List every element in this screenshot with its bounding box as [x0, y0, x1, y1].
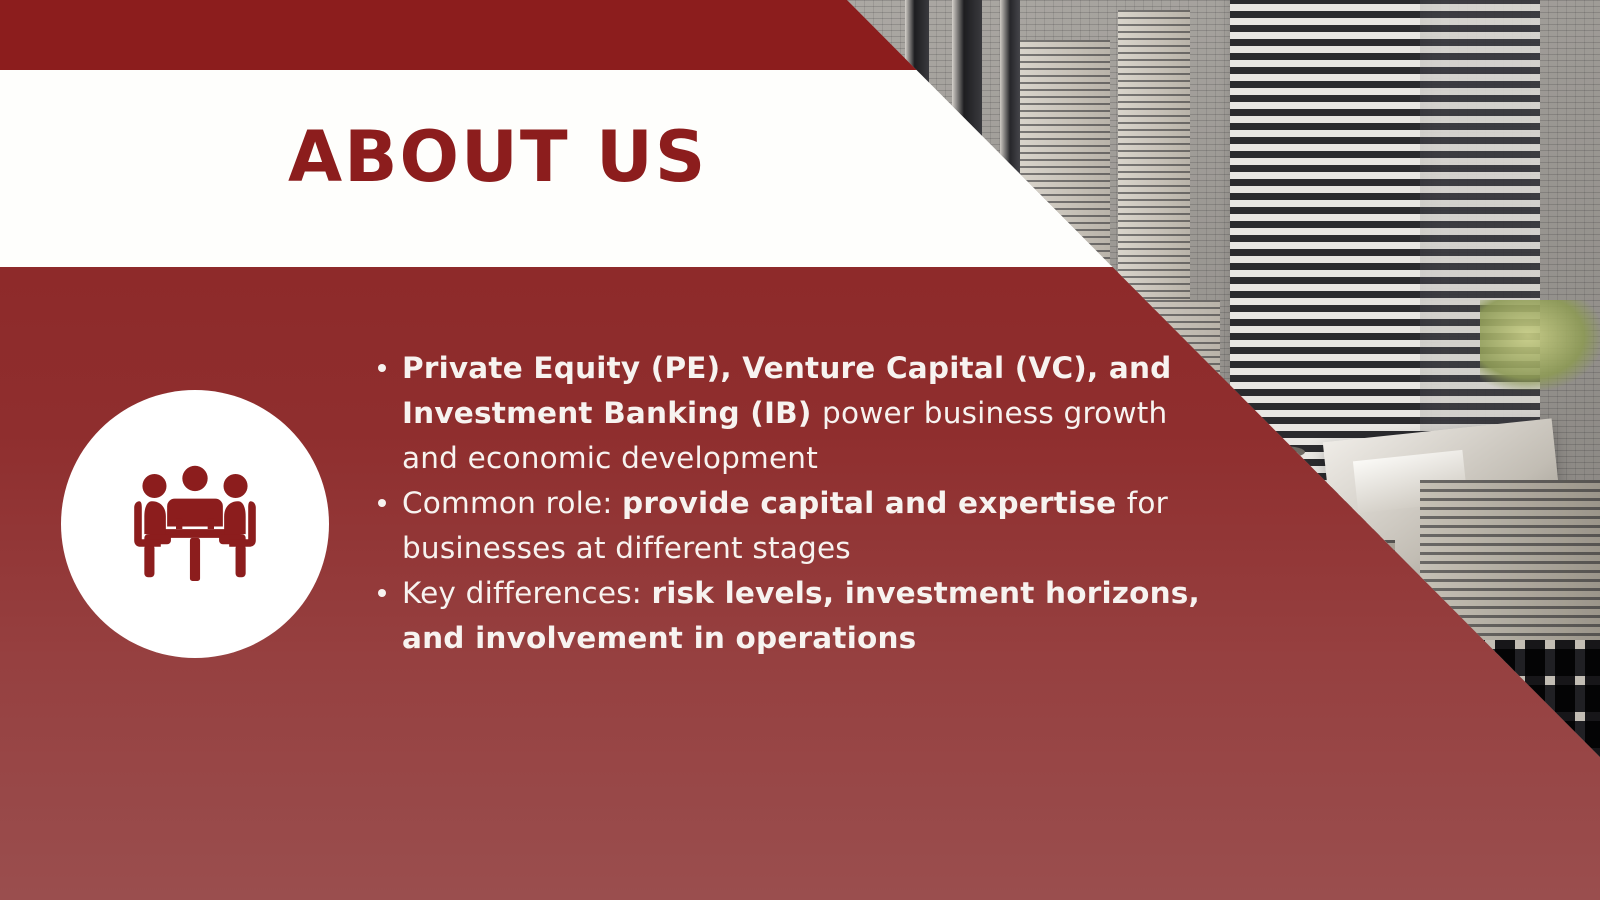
- list-item: Key differences: risk levels, investment…: [370, 571, 1200, 661]
- meeting-icon-badge: [61, 390, 329, 658]
- bullet-list: Private Equity (PE), Venture Capital (VC…: [370, 346, 1200, 661]
- bullet-text-regular: Key differences:: [402, 576, 651, 610]
- bullet-text-bold: provide capital and expertise: [622, 486, 1127, 520]
- list-item: Common role: provide capital and experti…: [370, 481, 1200, 571]
- page-title: ABOUT US: [288, 122, 707, 192]
- bullet-text-regular: Common role:: [402, 486, 622, 520]
- bullet-marker: [378, 364, 386, 372]
- list-item: Private Equity (PE), Venture Capital (VC…: [370, 346, 1200, 481]
- bullet-marker: [378, 589, 386, 597]
- meeting-table-icon: [119, 448, 271, 600]
- slide-root: ABOUT US: [0, 0, 1600, 900]
- bullet-marker: [378, 499, 386, 507]
